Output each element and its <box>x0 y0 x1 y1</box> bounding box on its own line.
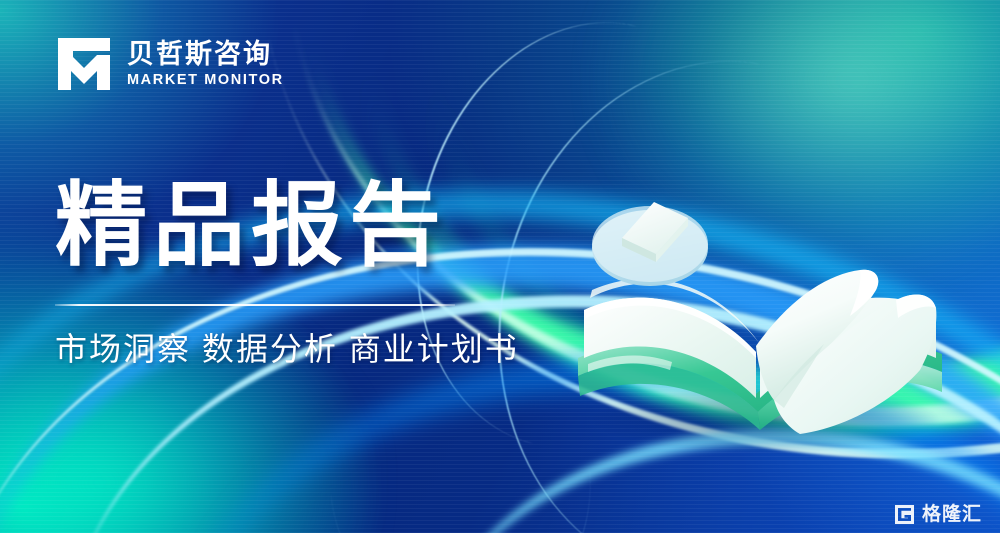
hero-text-block: 精品报告 市场洞察 数据分析 商业计划书 <box>55 178 519 367</box>
gelonghui-g-logo-icon <box>894 504 915 525</box>
brand-name-en: MARKET MONITOR <box>127 73 284 88</box>
report-banner: 贝哲斯咨询 MARKET MONITOR 精品报告 市场洞察 数据分析 商业计划… <box>0 0 1000 533</box>
watermark-text: 格隆汇 <box>922 505 982 524</box>
page-subtitle: 市场洞察 数据分析 商业计划书 <box>55 332 519 367</box>
page-title: 精品报告 <box>55 178 519 276</box>
watermark: 格隆汇 <box>894 504 982 525</box>
title-divider <box>55 304 455 306</box>
brand-logo: 贝哲斯咨询 MARKET MONITOR <box>55 35 284 93</box>
market-monitor-m-logo-icon <box>55 35 113 93</box>
open-book-3d-illustration-icon <box>560 158 960 448</box>
brand-logo-text: 贝哲斯咨询 MARKET MONITOR <box>127 41 284 88</box>
brand-name-cn: 贝哲斯咨询 <box>127 41 284 68</box>
